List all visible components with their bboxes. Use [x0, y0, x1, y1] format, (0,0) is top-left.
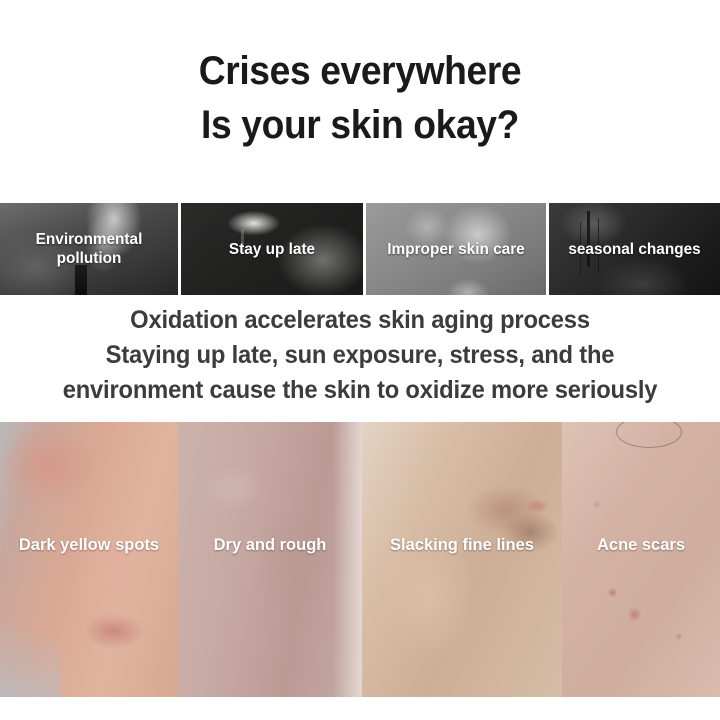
symptom-label-acne-scars: Acne scars	[564, 535, 717, 555]
flushed-cheek-closeup-photo	[0, 422, 178, 697]
symptom-label-slacking-fine-lines: Slacking fine lines	[365, 535, 559, 555]
symptoms-photo-strip: Dark yellow spots Dry and rough Slacking…	[0, 422, 720, 697]
cause-panel-seasonal-changes: seasonal changes	[549, 203, 720, 295]
cause-label-improper-skin-care: Improper skin care	[370, 240, 543, 259]
causes-photo-strip: Environmental pollution Stay up late Imp…	[0, 203, 720, 295]
cause-label-stay-up-late: Stay up late	[185, 240, 360, 259]
cause-label-seasonal-changes: seasonal changes	[552, 240, 716, 259]
page-title: Crises everywhere Is your skin okay?	[0, 44, 720, 152]
symptom-label-dark-yellow-spots: Dark yellow spots	[3, 535, 176, 555]
statement-line-3: environment cause the skin to oxidize mo…	[18, 373, 702, 408]
symptom-panel-dry-and-rough: Dry and rough	[178, 422, 362, 697]
headline-line-2: Is your skin okay?	[25, 98, 695, 152]
eye-area-fine-lines-closeup-photo	[362, 422, 562, 697]
statement-line-2: Staying up late, sun exposure, stress, a…	[18, 338, 702, 373]
cause-panel-environmental-pollution: Environmental pollution	[0, 203, 178, 295]
cause-label-environmental-pollution: Environmental pollution	[4, 230, 175, 268]
cause-panel-stay-up-late: Stay up late	[181, 203, 363, 295]
oxidation-statement: Oxidation accelerates skin aging process…	[0, 303, 720, 408]
symptom-panel-slacking-fine-lines: Slacking fine lines	[362, 422, 562, 697]
symptom-panel-dark-yellow-spots: Dark yellow spots	[0, 422, 178, 697]
acne-scarred-skin-closeup-photo	[562, 422, 720, 697]
headline-line-1: Crises everywhere	[25, 44, 695, 98]
skincare-infographic-page: Crises everywhere Is your skin okay? Env…	[0, 0, 720, 720]
dry-nose-skin-closeup-photo	[178, 422, 362, 697]
symptom-panel-acne-scars: Acne scars	[562, 422, 720, 697]
cause-panel-improper-skin-care: Improper skin care	[366, 203, 546, 295]
symptom-label-dry-and-rough: Dry and rough	[181, 535, 359, 555]
statement-line-1: Oxidation accelerates skin aging process	[18, 303, 702, 338]
